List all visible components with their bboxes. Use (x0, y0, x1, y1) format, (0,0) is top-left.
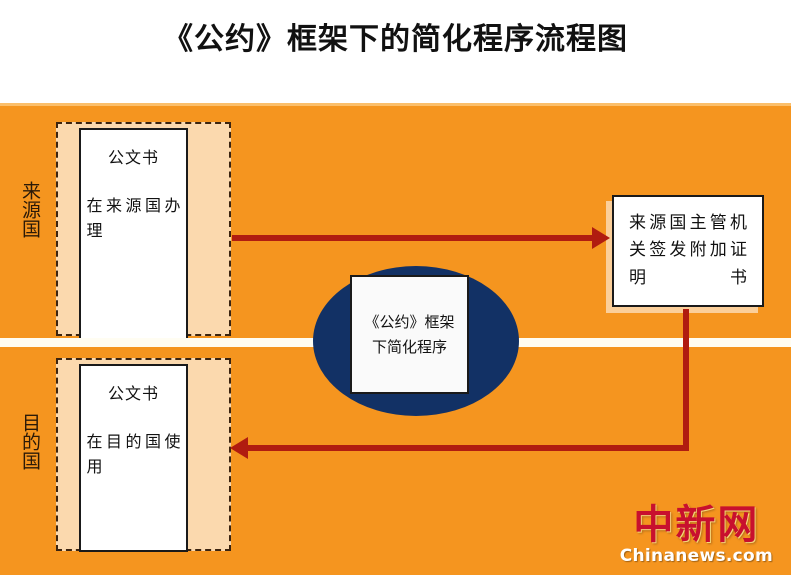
chinanews-watermark: 中新网 Chinanews.com (620, 505, 773, 565)
page-title: 《公约》框架下的简化程序流程图 (0, 14, 791, 58)
source-document-title: 公文书 (108, 144, 159, 168)
lane-caption-source: 来源国 (10, 181, 40, 238)
convention-ellipse-text: 《公约》框架下简化程序 (364, 310, 456, 360)
convention-ellipse-label: 《公约》框架下简化程序 (350, 275, 469, 394)
arrow-source-to-authority (232, 227, 610, 249)
flowchart-canvas: 《公约》框架下的简化程序流程图 来源国 目的国 公文书 在来源国办理 公文书 在… (0, 0, 791, 575)
destination-document-box[interactable]: 公文书 在目的国使用 (79, 364, 188, 552)
chinanews-logo-latin: Chinanews.com (620, 548, 773, 565)
source-document-body: 在来源国办理 (87, 194, 181, 244)
destination-document-title: 公文书 (108, 380, 159, 404)
lane-caption-destination: 目的国 (10, 413, 40, 470)
authority-box[interactable]: 来源国主管机关签发附加证明书 (612, 195, 764, 307)
source-document-box[interactable]: 公文书 在来源国办理 (79, 128, 188, 343)
stage-top-edge (0, 103, 791, 106)
flowchart-stage: 来源国 目的国 公文书 在来源国办理 公文书 在目的国使用 来源国主管机关签发附… (0, 103, 791, 575)
chinanews-logo-chinese: 中新网 (620, 505, 773, 545)
destination-document-body: 在目的国使用 (87, 430, 181, 480)
authority-box-text: 来源国主管机关签发附加证明书 (629, 210, 747, 292)
